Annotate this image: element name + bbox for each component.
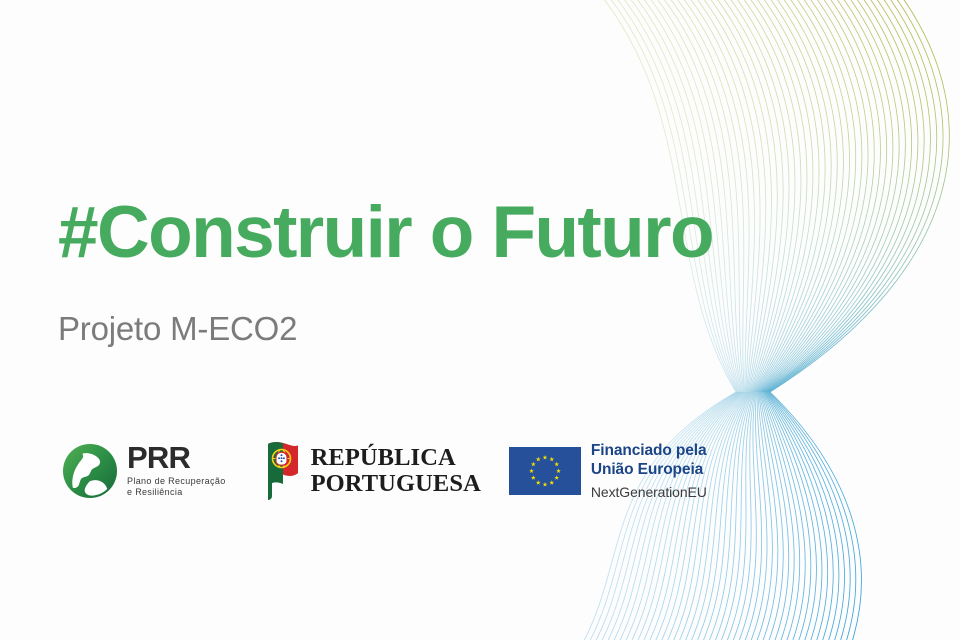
logo-republica-portuguesa: REPÚBLICA PORTUGUESA	[262, 440, 481, 502]
republica-text-block: REPÚBLICA PORTUGUESA	[311, 445, 481, 497]
headline-block: #Construir o Futuro Projeto M-ECO2	[58, 196, 758, 348]
eu-programme-name: NextGenerationEU	[591, 484, 707, 500]
prr-circle-portugal-icon	[62, 443, 118, 499]
logo-prr: PRR Plano de Recuperação e Resiliência	[62, 443, 226, 499]
presentation-slide: #Construir o Futuro Projeto M-ECO2	[0, 0, 960, 640]
prr-tagline-line1: Plano de Recuperação	[127, 476, 226, 488]
european-union-flag-icon	[509, 447, 581, 495]
portugal-flag-shield-icon	[262, 440, 302, 502]
prr-tagline: Plano de Recuperação e Resiliência	[127, 476, 226, 499]
eu-text-block: Financiado pela União Europeia NextGener…	[591, 442, 707, 500]
republica-line2: PORTUGUESA	[311, 471, 481, 497]
logo-bar: PRR Plano de Recuperação e Resiliência	[62, 440, 707, 502]
page-title: #Construir o Futuro	[58, 196, 758, 270]
republica-line1: REPÚBLICA	[311, 445, 481, 471]
eu-funding-line2: União Europeia	[591, 461, 707, 480]
prr-wordmark: PRR	[127, 443, 226, 473]
eu-funding-line1: Financiado pela	[591, 442, 707, 461]
prr-text-block: PRR Plano de Recuperação e Resiliência	[127, 443, 226, 499]
page-subtitle: Projeto M-ECO2	[58, 270, 758, 348]
prr-tagline-line2: e Resiliência	[127, 487, 226, 499]
logo-european-union: Financiado pela União Europeia NextGener…	[509, 442, 707, 500]
